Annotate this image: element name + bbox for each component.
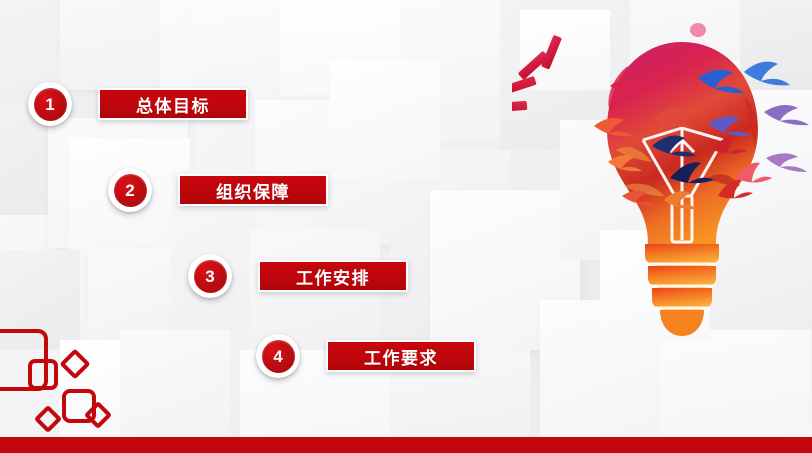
agenda-item-3[interactable]: 3 工作安排 xyxy=(188,254,408,298)
agenda-label: 总体目标 xyxy=(136,92,210,117)
agenda-label-box[interactable]: 组织保障 xyxy=(178,174,328,206)
agenda-item-2[interactable]: 2 组织保障 xyxy=(108,168,328,212)
agenda-item-1[interactable]: 1 总体目标 xyxy=(28,82,248,126)
bg-square xyxy=(60,0,170,90)
agenda-number: 1 xyxy=(45,96,54,113)
footer-bar xyxy=(0,437,812,453)
decor-rounded-square-small xyxy=(28,359,58,390)
agenda-number: 2 xyxy=(125,182,134,199)
agenda-label-box[interactable]: 工作安排 xyxy=(258,260,408,292)
agenda-number-badge[interactable]: 2 xyxy=(108,168,152,212)
agenda-label-box[interactable]: 总体目标 xyxy=(98,88,248,120)
ray-dashes xyxy=(512,35,562,112)
bulb-base xyxy=(645,244,719,336)
lightbulb-artwork xyxy=(512,0,812,370)
bg-square xyxy=(120,330,230,450)
agenda-number-badge[interactable]: 1 xyxy=(28,82,72,126)
agenda-label: 组织保障 xyxy=(216,178,290,203)
agenda-label-box[interactable]: 工作要求 xyxy=(326,340,476,372)
agenda-label: 工作安排 xyxy=(296,264,370,289)
agenda-number-badge[interactable]: 3 xyxy=(188,254,232,298)
agenda-item-4[interactable]: 4 工作要求 xyxy=(256,334,476,378)
slide-canvas: 1 总体目标 2 组织保障 3 工作安排 4 工作要求 xyxy=(0,0,812,453)
bg-square xyxy=(330,60,440,180)
agenda-label: 工作要求 xyxy=(364,344,438,369)
agenda-number: 4 xyxy=(273,348,282,365)
agenda-number: 3 xyxy=(205,268,214,285)
agenda-number-badge[interactable]: 4 xyxy=(256,334,300,378)
